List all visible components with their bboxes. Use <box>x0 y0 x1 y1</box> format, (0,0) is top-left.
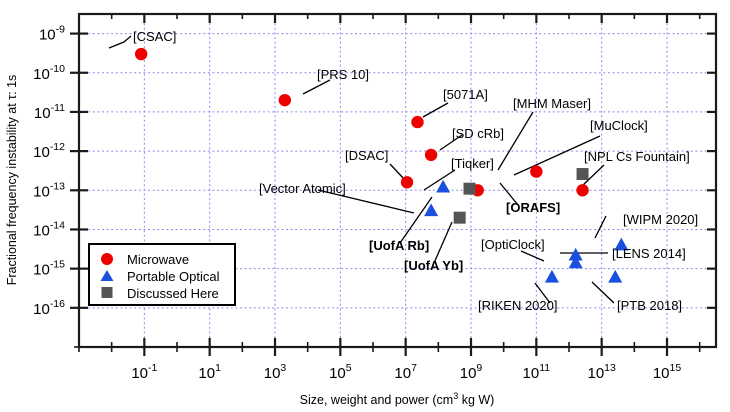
x-tick-label: 1015 <box>653 362 682 382</box>
anno-prs10: [PRS 10] <box>317 67 369 82</box>
scatter-plot: 10-1101103105107109101110131015 10-910-1… <box>0 0 730 412</box>
x-tick-label: 101 <box>198 362 221 382</box>
x-tick-label: 1013 <box>587 362 616 382</box>
x-tick-label: 1011 <box>523 362 551 382</box>
x-tick-label: 103 <box>264 362 287 382</box>
y-tick-label: 10-15 <box>33 259 65 279</box>
legend-label-discussed-here: Discussed Here <box>127 286 219 301</box>
anno-uofa-yb: [UofA Yb] <box>404 258 463 273</box>
anno-orafs: [ORAFS] <box>506 200 560 215</box>
y-tick-label: 10-11 <box>34 102 65 122</box>
anno-tiqker: [Tiqker] <box>451 156 494 171</box>
marker-riken-2020 <box>545 270 559 283</box>
y-tick-label: 10-13 <box>33 180 65 200</box>
marker-uofa-yb <box>577 168 589 180</box>
marker-uofa-rb <box>454 212 466 224</box>
anno-muclock: [MuClock] <box>590 118 648 133</box>
marker-prs-10 <box>279 94 291 106</box>
marker-5071a <box>411 116 423 128</box>
anno-npl-cs-fountain: [NPL Cs Fountain] <box>584 149 690 164</box>
marker-ptb-2018 <box>608 270 622 283</box>
marker-npl-cs-fountain <box>576 184 588 196</box>
y-tick-label: 10-14 <box>33 219 65 239</box>
marker-tiqker <box>436 180 450 193</box>
legend-label-microwave: Microwave <box>127 252 189 267</box>
anno-vector-atomic: [Vector Atomic] <box>259 181 346 196</box>
y-axis-title: Fractional frequency instability at τ: 1… <box>5 75 19 286</box>
anno-dsac: [DSAC] <box>345 148 388 163</box>
legend-marker-microwave <box>101 253 113 265</box>
marker-dsac <box>401 176 413 188</box>
anno-uofa-rb: [UofA Rb] <box>369 238 429 253</box>
y-tick-label: 10-9 <box>39 24 65 44</box>
anno-mhm-maser: [MHM Maser] <box>513 96 591 111</box>
y-tick-label: 10-16 <box>33 298 65 318</box>
anno-opticlock: [OptiClock] <box>481 237 545 252</box>
x-tick-label: 109 <box>460 362 483 382</box>
legend-marker-discussed-here <box>102 287 113 298</box>
chart-root: 10-1101103105107109101110131015 10-910-1… <box>0 0 730 412</box>
anno-lens2014: [LENS 2014] <box>612 246 686 261</box>
anno-csac: [CSAC] <box>133 29 176 44</box>
legend: Microwave Portable Optical Discussed Her… <box>89 244 235 305</box>
marker-muclock <box>530 165 542 177</box>
y-tick-labels: 10-910-1010-1110-1210-1310-1410-1510-16 <box>33 24 65 318</box>
marker-orafs <box>464 183 476 195</box>
x-tick-label: 10-1 <box>131 362 157 382</box>
anno-wipm2020: [WIPM 2020] <box>623 212 698 227</box>
marker-sd-crb <box>425 149 437 161</box>
anno-5071a: [5071A] <box>443 87 488 102</box>
marker-csac <box>135 48 147 60</box>
x-tick-labels: 10-1101103105107109101110131015 <box>131 362 681 382</box>
x-tick-label: 105 <box>329 362 352 382</box>
legend-label-portable-optical: Portable Optical <box>127 269 220 284</box>
x-tick-label: 107 <box>394 362 417 382</box>
anno-riken2020: [RIKEN 2020] <box>478 298 558 313</box>
y-tick-label: 10-10 <box>33 63 65 83</box>
y-tick-label: 10-12 <box>33 141 65 161</box>
anno-ptb2018: [PTB 2018] <box>617 298 682 313</box>
x-axis-title: Size, weight and power (cm3 kg W) <box>300 391 495 407</box>
anno-sdcrb: [SD cRb] <box>452 126 504 141</box>
